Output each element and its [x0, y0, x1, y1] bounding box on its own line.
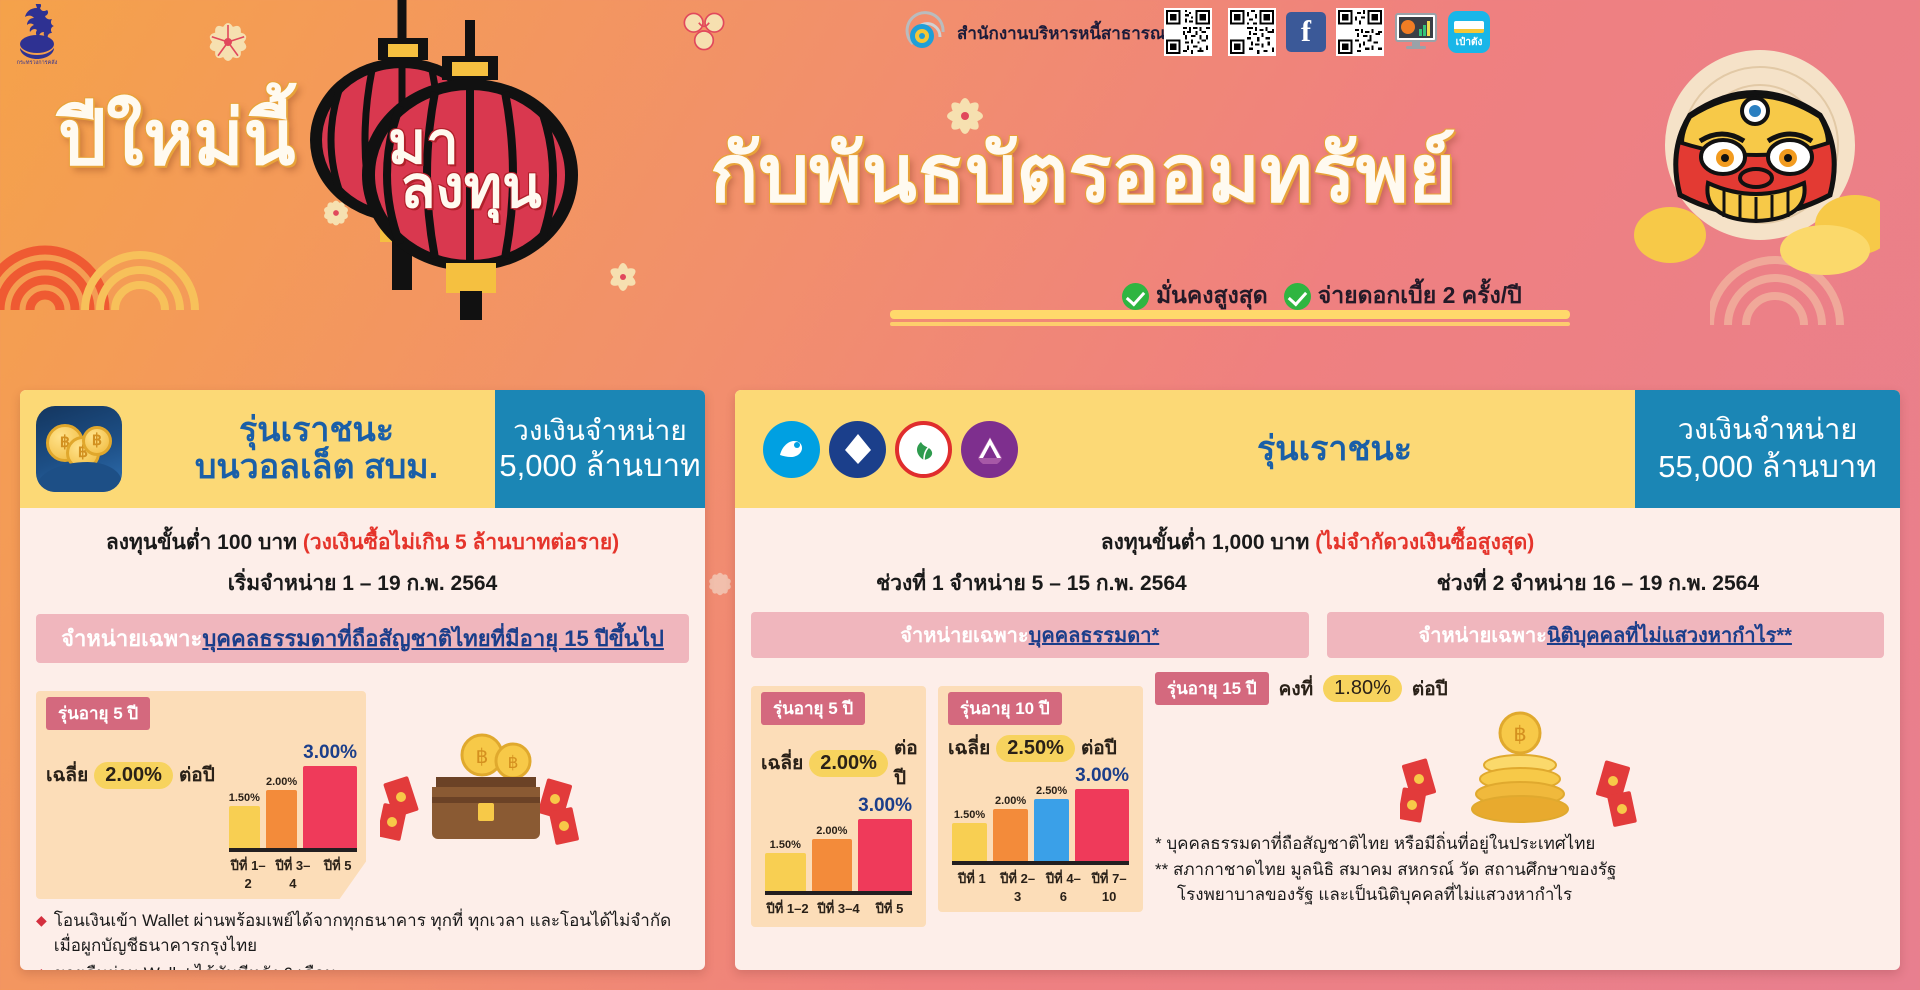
card-body: ลงทุนขั้นต่ำ 100 บาท (วงเงินซื้อไม่เกิน …: [20, 508, 705, 970]
x-tick: ปีที่ 1: [952, 868, 992, 904]
svg-text:฿: ฿: [476, 746, 489, 768]
feature-badges: มั่นคงสูงสุด จ่ายดอกเบี้ย 2 ครั้ง/ปี: [1122, 278, 1522, 314]
min-investment-black: ลงทุนขั้นต่ำ 1,000 บาท: [1101, 531, 1315, 554]
bar-value: 1.50%: [770, 839, 801, 851]
avg-prefix: เฉลี่ย: [948, 733, 990, 763]
card-body: ลงทุนขั้นต่ำ 1,000 บาท (ไม่จำกัดวงเงินซื…: [735, 508, 1900, 937]
card-title-line-1: รุ่นเราชนะ: [138, 412, 495, 449]
footnote-2: ** สภากาชาดไทย มูลนิธิ สมาคม สหกรณ์ วัด …: [1155, 857, 1884, 883]
x-tick: ปีที่ 1–2: [765, 898, 810, 919]
bar: [266, 790, 297, 848]
note-item: ◆ ขายคืนผ่าน Wallet ได้ทันทีหลัง 6 เดือน: [36, 962, 689, 970]
facebook-icon[interactable]: f: [1286, 12, 1326, 52]
x-tick-labels: ปีที่ 1–2 ปีที่ 3–4 ปีที่ 5: [761, 898, 916, 919]
hero-lantern-word-2: ลงทุน: [400, 140, 542, 233]
sale-period: เริ่มจำหน่าย 1 – 19 ก.พ. 2564: [36, 567, 689, 600]
bar-column: 2.00%: [993, 795, 1028, 861]
svg-text:฿: ฿: [508, 753, 519, 772]
pdmo-logo-icon: [905, 10, 951, 56]
avg-value: 2.00%: [809, 750, 888, 777]
bar-value: 3.00%: [1075, 765, 1129, 787]
sale-periods: ช่วงที่ 1 จำหน่าย 5 – 15 ก.พ. 2564 ช่วงท…: [751, 567, 1884, 600]
bar-value: 3.00%: [858, 795, 912, 817]
bar-value: 3.00%: [303, 742, 357, 764]
sbm-wallet-app-icon: ฿ ฿ ฿: [36, 406, 122, 492]
bar-chart: 1.50% 2.00% 2.50% 3.00%: [948, 765, 1133, 861]
footnote-3: โรงพยาบาลของรัฐ และเป็นนิติบุคคลที่ไม่แส…: [1155, 882, 1884, 908]
diamond-bullet-icon: ◆: [36, 962, 47, 970]
note-text: ขายคืนผ่าน Wallet ได้ทันทีหลัง 6 เดือน: [54, 962, 336, 970]
issue-amount-box: วงเงินจำหน่าย 5,000 ล้านบาท: [495, 390, 705, 508]
bar-column: 1.50%: [952, 809, 987, 861]
qr-row-1: [1164, 8, 1212, 56]
eligibility-bar: จำหน่ายเฉพาะบุคคลธรรมดาที่ถือสัญชาติไทยท…: [36, 614, 689, 663]
issue-amount-value: 5,000 ล้านบาท: [499, 447, 700, 484]
bar-column: 3.00%: [303, 742, 357, 848]
x-tick: ปีที่ 7–10: [1089, 868, 1129, 904]
x-axis: [952, 861, 1129, 865]
card-title: รุ่นเราชนะ: [1034, 431, 1635, 468]
treasure-box-illustration: ฿ ฿: [380, 677, 580, 899]
avg-value: 2.00%: [94, 762, 173, 789]
bar-column: 2.50%: [1034, 785, 1069, 861]
eligibility-bar-1: จำหน่ายเฉพาะบุคคลธรรมดา*: [751, 612, 1309, 658]
eligibility-underline: บุคคลธรรมดาที่ถือสัญชาติไทยที่มีอายุ 15 …: [202, 626, 664, 651]
avg-prefix: เฉลี่ย: [46, 760, 88, 790]
x-axis: [229, 848, 357, 852]
card-title-line-2: บนวอลเล็ต สบม.: [138, 449, 495, 486]
eligibility-prefix: จำหน่ายเฉพาะ: [61, 626, 202, 651]
pdmo-name-label: สำนักงานบริหารหนี้สาธารณะ: [957, 20, 1175, 47]
social-links-row: f: [1228, 8, 1490, 56]
coin-stack-illustration: ฿: [1155, 709, 1884, 829]
bar-value: 2.00%: [995, 795, 1026, 807]
issue-amount-label: วงเงินจำหน่าย: [1678, 413, 1858, 448]
bar: [952, 823, 987, 861]
min-investment-line: ลงทุนขั้นต่ำ 100 บาท (วงเงินซื้อไม่เกิน …: [36, 526, 689, 559]
bank-baac-icon: [895, 421, 952, 478]
bar: [303, 766, 357, 848]
hero-line-2: กับพันธบัตรออมทรัพย์: [710, 110, 1455, 237]
bar-column: 1.50%: [765, 839, 806, 891]
card-title: รุ่นเราชนะ บนวอลเล็ต สบม.: [138, 412, 495, 485]
bar-column: 2.00%: [266, 776, 297, 848]
bar-value: 1.50%: [954, 809, 985, 821]
min-investment-red: (ไม่จำกัดวงเงินซื้อสูงสุด): [1315, 531, 1534, 554]
bar: [993, 809, 1028, 861]
x-tick: ปีที่ 2–3: [998, 868, 1038, 904]
tier-tag: รุ่นอายุ 15 ปี: [1155, 672, 1269, 705]
note-text: โอนเงินเข้า Wallet ผ่านพร้อมเพย์ได้จากทุ…: [54, 909, 689, 958]
bank-logos: [751, 421, 1018, 478]
min-investment-black: ลงทุนขั้นต่ำ 100 บาท: [106, 531, 303, 554]
bank-gsb-icon: [961, 421, 1018, 478]
footnotes: * บุคคลธรรมดาที่ถือสัญชาติไทย หรือมีถิ่น…: [1155, 831, 1884, 908]
wallet-notes: ◆ โอนเงินเข้า Wallet ผ่านพร้อมเพย์ได้จาก…: [36, 909, 689, 970]
pdmo-header-row: สำนักงานบริหารหนี้สาธารณะ: [905, 10, 1175, 56]
eligibility-underline: นิติบุคคลที่ไม่แสวงหากำไร**: [1547, 625, 1792, 647]
avg-suffix: ต่อปี: [1081, 733, 1117, 763]
bar-value: 2.50%: [1036, 785, 1067, 797]
svg-text:฿: ฿: [1513, 722, 1526, 746]
chart-5y-wallet: รุ่นอายุ 5 ปี เฉลี่ย 2.00% ต่อปี 1.50% 2…: [36, 691, 366, 899]
card-header: ฿ ฿ ฿ รุ่นเราชนะ บนวอลเล็ต สบม. วงเงินจำ…: [20, 390, 705, 508]
sale-period-1: ช่วงที่ 1 จำหน่าย 5 – 15 ก.พ. 2564: [876, 567, 1187, 600]
x-tick: ปีที่ 4–6: [1044, 868, 1084, 904]
issue-amount-value: 55,000 ล้านบาท: [1658, 448, 1877, 485]
svg-text:กระทรวงการคลัง: กระทรวงการคลัง: [17, 59, 58, 66]
fixed-suffix: ต่อปี: [1412, 674, 1448, 704]
x-tick: ปีที่ 5: [318, 855, 357, 891]
diamond-bullet-icon: ◆: [36, 909, 47, 931]
paotang-wallet-icon[interactable]: เป๋าตัง: [1448, 11, 1490, 53]
eligibility-prefix: จำหน่ายเฉพาะ: [1419, 625, 1547, 647]
bar-column: 2.00%: [812, 825, 853, 891]
x-axis: [765, 891, 912, 895]
eligibility-prefix: จำหน่ายเฉพาะ: [900, 625, 1028, 647]
monitor-icon[interactable]: [1394, 12, 1438, 52]
bar: [1075, 789, 1129, 861]
bank-krungthai-icon: [763, 421, 820, 478]
issue-amount-label: วงเงินจำหน่าย: [513, 414, 687, 448]
badge-item: จ่ายดอกเบี้ย 2 ครั้ง/ปี: [1284, 278, 1522, 314]
tier-tag: รุ่นอายุ 5 ปี: [46, 697, 150, 730]
bank-bond-card: รุ่นเราชนะ วงเงินจำหน่าย 55,000 ล้านบาท …: [735, 390, 1900, 970]
average-rate-line: เฉลี่ย 2.00% ต่อปี: [761, 733, 916, 793]
x-tick-labels: ปีที่ 1 ปีที่ 2–3 ปีที่ 4–6 ปีที่ 7–10: [948, 868, 1133, 904]
footnote-1: * บุคคลธรรมดาที่ถือสัญชาติไทย หรือมีถิ่น…: [1155, 831, 1884, 857]
badge-label: มั่นคงสูงสุด: [1156, 278, 1268, 314]
flower-decoration: [198, 14, 258, 70]
hero-line-1: ปีใหม่นี้: [58, 78, 296, 198]
avg-suffix: ต่อปี: [894, 733, 918, 793]
badge-underline-bar-2: [890, 322, 1570, 326]
note-item: ◆ โอนเงินเข้า Wallet ผ่านพร้อมเพย์ได้จาก…: [36, 909, 689, 958]
bar-column: 3.00%: [858, 795, 912, 891]
bar: [812, 839, 853, 891]
flower-decoration: [673, 2, 735, 60]
fixed-value: 1.80%: [1323, 675, 1402, 702]
x-tick: ปีที่ 5: [867, 898, 912, 919]
check-icon: [1284, 283, 1311, 310]
bar-value: 2.00%: [816, 825, 847, 837]
bar-value: 2.00%: [266, 776, 297, 788]
chart-5y-bank: รุ่นอายุ 5 ปี เฉลี่ย 2.00% ต่อปี 1.50% 2…: [751, 686, 926, 927]
badge-label: จ่ายดอกเบี้ย 2 ครั้ง/ปี: [1318, 278, 1522, 314]
bar-chart: 1.50% 2.00% 3.00%: [761, 795, 916, 891]
tier-tag: รุ่นอายุ 5 ปี: [761, 692, 865, 725]
min-investment-line: ลงทุนขั้นต่ำ 1,000 บาท (ไม่จำกัดวงเงินซื…: [751, 526, 1884, 559]
qr-code-3[interactable]: [1336, 8, 1384, 56]
bar: [229, 806, 260, 848]
eligibility-underline: บุคคลธรรมดา*: [1029, 625, 1160, 647]
qr-code-2[interactable]: [1228, 8, 1276, 56]
issue-amount-box: วงเงินจำหน่าย 55,000 ล้านบาท: [1635, 390, 1900, 508]
card-header-main: รุ่นเราชนะ: [735, 390, 1635, 508]
eligibility-bar-2: จำหน่ายเฉพาะนิติบุคคลที่ไม่แสวงหากำไร**: [1327, 612, 1885, 658]
badge-item: มั่นคงสูงสุด: [1122, 278, 1268, 314]
cloud-decoration-left: [0, 185, 200, 315]
x-tick: ปีที่ 3–4: [816, 898, 861, 919]
card-header: รุ่นเราชนะ วงเงินจำหน่าย 55,000 ล้านบาท: [735, 390, 1900, 508]
min-investment-red: (วงเงินซื้อไม่เกิน 5 ล้านบาทต่อราย): [303, 531, 619, 554]
tier-tag: รุ่นอายุ 10 ปี: [948, 692, 1062, 725]
fixed-prefix: คงที่: [1279, 674, 1314, 704]
chart-10y-bank: รุ่นอายุ 10 ปี เฉลี่ย 2.50% ต่อปี 1.50% …: [938, 686, 1143, 912]
flower-decoration: [700, 565, 740, 603]
bar-value: 1.50%: [229, 792, 260, 804]
lion-dance-head-icon: [1630, 45, 1880, 275]
avg-suffix: ต่อปี: [179, 760, 215, 790]
tier-15y-row: รุ่นอายุ 15 ปี คงที่ 1.80% ต่อปี: [1155, 672, 1884, 705]
qr-code-1[interactable]: [1164, 8, 1212, 56]
check-icon: [1122, 283, 1149, 310]
bar: [1034, 799, 1069, 861]
bar-column: 1.50%: [229, 792, 260, 848]
x-tick: ปีที่ 1–2: [229, 855, 268, 891]
x-tick: ปีที่ 3–4: [274, 855, 313, 891]
bar: [765, 853, 806, 891]
bar-chart: 1.50% 2.00% 3.00%: [225, 736, 361, 848]
bank-ktb-icon: [829, 421, 886, 478]
card-header-main: ฿ ฿ ฿ รุ่นเราชนะ บนวอลเล็ต สบม.: [20, 390, 495, 508]
average-rate-line: เฉลี่ย 2.50% ต่อปี: [948, 733, 1133, 763]
x-tick-labels: ปีที่ 1–2 ปีที่ 3–4 ปีที่ 5: [225, 855, 361, 891]
wallet-label: เป๋าตัง: [1456, 35, 1483, 50]
bar-column: 3.00%: [1075, 765, 1129, 861]
wallet-bond-card: ฿ ฿ ฿ รุ่นเราชนะ บนวอลเล็ต สบม. วงเงินจำ…: [20, 390, 705, 970]
avg-prefix: เฉลี่ย: [761, 748, 803, 778]
ministry-of-finance-logo: กระทรวงการคลัง: [6, 4, 68, 66]
bar: [858, 819, 912, 891]
avg-value: 2.50%: [996, 735, 1075, 762]
sale-period-2: ช่วงที่ 2 จำหน่าย 16 – 19 ก.พ. 2564: [1437, 567, 1759, 600]
